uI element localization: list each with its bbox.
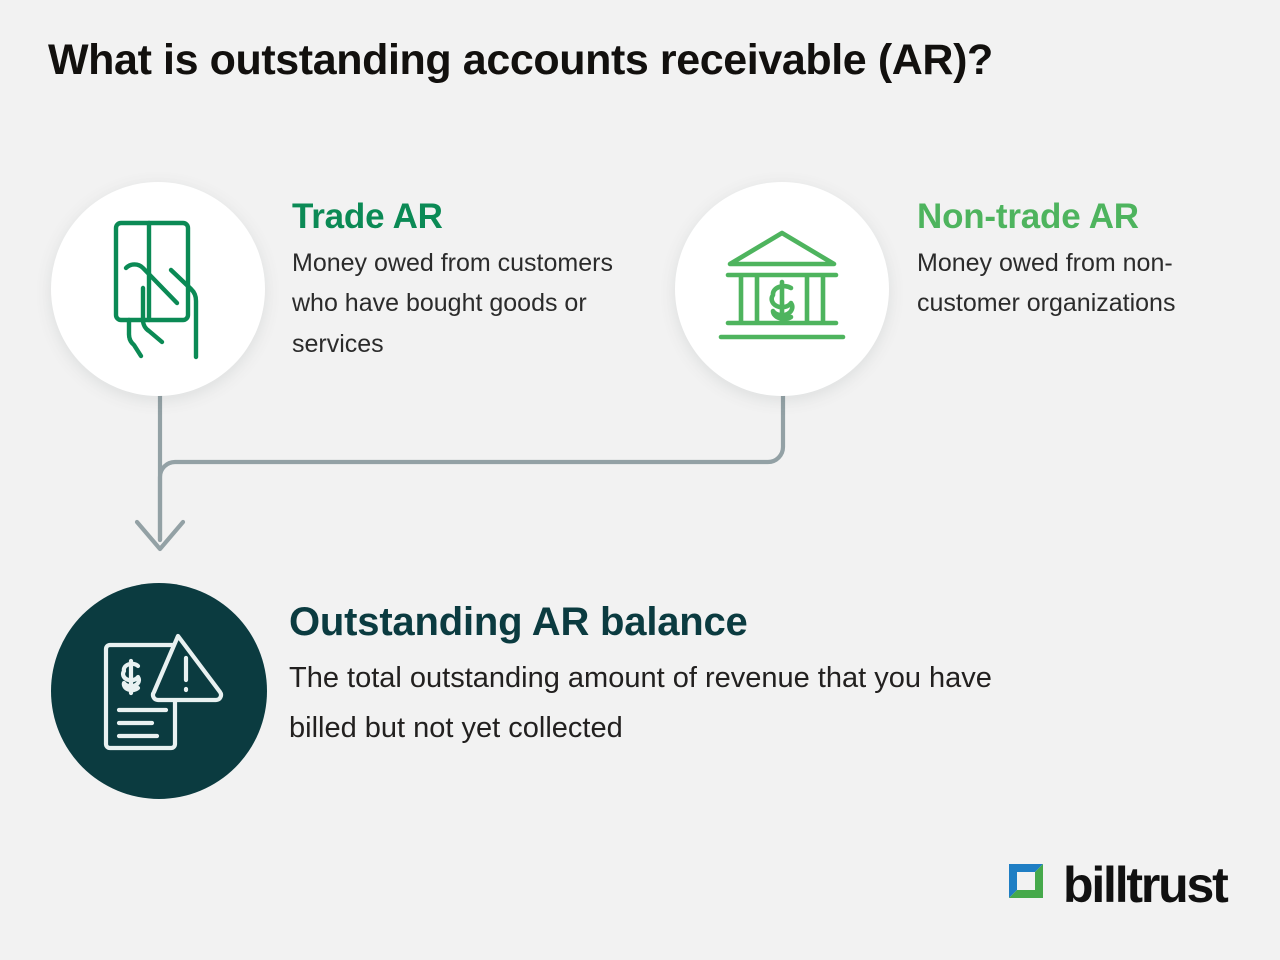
trade-ar-description: Money owed from customers who have bough… <box>292 243 642 365</box>
billtrust-logo: billtrust <box>1002 860 1227 910</box>
hand-holding-card-icon <box>99 214 217 364</box>
invoice-warning-icon <box>94 630 224 752</box>
trade-ar-block: Trade AR Money owed from customers who h… <box>292 198 642 364</box>
outstanding-ar-icon-circle <box>51 583 267 799</box>
infographic-canvas: What is outstanding accounts receivable … <box>0 0 1280 960</box>
nontrade-ar-heading: Non-trade AR <box>917 198 1247 237</box>
nontrade-ar-block: Non-trade AR Money owed from non-custome… <box>917 198 1247 324</box>
bank-dollar-icon <box>716 227 848 351</box>
trade-ar-heading: Trade AR <box>292 198 642 237</box>
outstanding-ar-block: Outstanding AR balance The total outstan… <box>289 600 1049 754</box>
outstanding-ar-heading: Outstanding AR balance <box>289 600 1049 644</box>
merge-arrow-connector <box>0 0 1280 960</box>
page-title: What is outstanding accounts receivable … <box>48 36 1238 85</box>
nontrade-ar-icon-circle <box>675 182 889 396</box>
trade-ar-icon-circle <box>51 182 265 396</box>
billtrust-wordmark: billtrust <box>1063 860 1227 910</box>
billtrust-diamond-mark <box>1002 861 1050 909</box>
nontrade-ar-description: Money owed from non-customer organizatio… <box>917 243 1247 324</box>
outstanding-ar-description: The total outstanding amount of revenue … <box>289 654 1049 754</box>
